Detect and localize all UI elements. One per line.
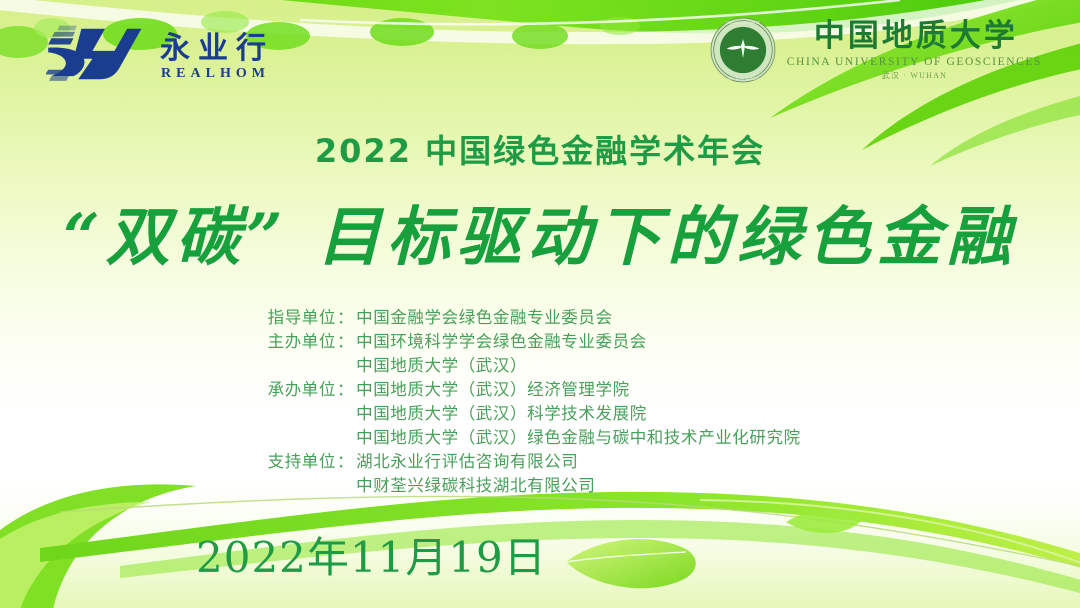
organizer-value: 中国金融学会绿色金融专业委员会	[355, 306, 613, 330]
organizer-row: 承办单位：中国地质大学（武汉）经济管理学院	[240, 378, 840, 402]
organizer-label: 支持单位	[240, 450, 336, 474]
organizer-row: 中国地质大学（武汉）科学技术发展院	[240, 402, 840, 426]
organizer-colon: ：	[336, 330, 355, 354]
background-decoration	[0, 0, 1080, 608]
organizer-value: 中国地质大学（武汉）绿色金融与碳中和技术产业化研究院	[355, 426, 801, 450]
organizer-label: 指导单位	[240, 306, 336, 330]
svg-text:CHINA UNIVERSITY: CHINA UNIVERSITY	[726, 21, 761, 25]
organizer-list: 指导单位：中国金融学会绿色金融专业委员会主办单位：中国环境科学学会绿色金融专业委…	[240, 306, 840, 498]
poster-canvas: 永业行 REALHOM CHINA UNIVERSITY OF GEOSCIEN…	[0, 0, 1080, 608]
university-logo-cug: CHINA UNIVERSITY OF GEOSCIENCES 中国地质大学 C…	[709, 16, 1042, 84]
organizer-colon	[336, 426, 355, 450]
organizer-colon	[336, 474, 355, 498]
organizer-colon: ：	[336, 450, 355, 474]
conference-main-title: “双碳” 目标驱动下的绿色金融	[0, 186, 1080, 278]
organizer-value: 中财荃兴绿碳科技湖北有限公司	[355, 474, 595, 498]
event-date: 2022年11月19日	[196, 524, 547, 585]
organizer-value: 中国地质大学（武汉）	[355, 354, 527, 378]
organizer-row: 中国地质大学（武汉）	[240, 354, 840, 378]
organizer-row: 中国地质大学（武汉）绿色金融与碳中和技术产业化研究院	[240, 426, 840, 450]
organizer-row: 指导单位：中国金融学会绿色金融专业委员会	[240, 306, 840, 330]
organizer-value: 湖北永业行评估咨询有限公司	[355, 450, 578, 474]
svg-text:OF GEOSCIENCES: OF GEOSCIENCES	[728, 77, 758, 81]
organizer-label: 主办单位	[240, 330, 336, 354]
organizer-colon: ：	[336, 306, 355, 330]
organizer-row: 中财荃兴绿碳科技湖北有限公司	[240, 474, 840, 498]
organizer-colon	[336, 402, 355, 426]
organizer-label: 承办单位	[240, 378, 336, 402]
organizer-block: 指导单位：中国金融学会绿色金融专业委员会主办单位：中国环境科学学会绿色金融专业委…	[0, 306, 1080, 498]
realhom-name-cn: 永业行	[152, 33, 274, 65]
organizer-value: 中国环境科学学会绿色金融专业委员会	[355, 330, 647, 354]
cug-campus: 武汉 · WUHAN	[882, 70, 947, 81]
organizer-row: 主办单位：中国环境科学学会绿色金融专业委员会	[240, 330, 840, 354]
sponsor-logo-realhom: 永业行 REALHOM	[46, 24, 274, 84]
yh-monogram-logo	[46, 24, 142, 84]
organizer-value: 中国地质大学（武汉）科学技术发展院	[355, 402, 647, 426]
realhom-name-en: REALHOM	[156, 66, 270, 82]
cug-name-cn: 中国地质大学	[811, 19, 1018, 53]
cug-name-en: CHINA UNIVERSITY OF GEOSCIENCES	[787, 56, 1042, 68]
organizer-row: 支持单位：湖北永业行评估咨询有限公司	[240, 450, 840, 474]
organizer-value: 中国地质大学（武汉）经济管理学院	[355, 378, 630, 402]
organizer-colon	[336, 354, 355, 378]
conference-subtitle: 2022 中国绿色金融学术年会	[0, 126, 1080, 172]
cug-seal-emblem: CHINA UNIVERSITY OF GEOSCIENCES	[709, 16, 777, 84]
organizer-colon: ：	[336, 378, 355, 402]
